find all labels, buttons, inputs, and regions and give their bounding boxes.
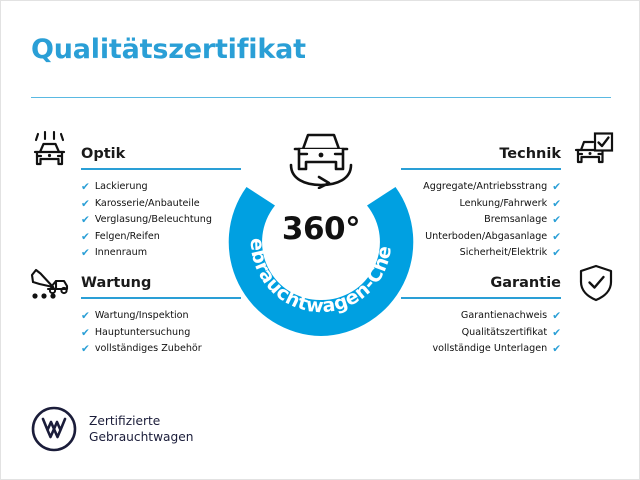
list-item: Sicherheit/Elektrik ✔: [401, 245, 561, 262]
title-divider: [31, 97, 611, 98]
car-shine-icon: [27, 131, 73, 171]
section-garantie: Garantie Garantienachweis ✔ Qualitätszer…: [401, 273, 561, 358]
check-icon: ✔: [81, 344, 90, 355]
quality-certificate-page: Qualitätszertifikat: [0, 0, 640, 480]
section-header-wartung: Wartung: [81, 273, 241, 299]
list-item: ✔ vollständiges Zubehör: [81, 341, 241, 358]
list-item: ✔ Karosserie/Anbauteile: [81, 196, 241, 213]
list-item: ✔ Hauptuntersuchung: [81, 325, 241, 342]
list-item: ✔ Felgen/Reifen: [81, 229, 241, 246]
car-rotate-icon: [279, 127, 363, 189]
car-checkbox-icon: [569, 131, 615, 171]
list-item-label: Innenraum: [95, 245, 147, 262]
list-item: ✔ Innenraum: [81, 245, 241, 262]
list-item: Bremsanlage ✔: [401, 212, 561, 229]
list-item: Garantienachweis ✔: [401, 308, 561, 325]
section-header-optik: Optik: [81, 144, 241, 170]
section-title-technik: Technik: [401, 144, 561, 164]
list-item-label: vollständige Unterlagen: [432, 341, 547, 358]
list-item-label: Aggregate/Antriebsstrang: [423, 179, 547, 196]
section-title-garantie: Garantie: [401, 273, 561, 293]
check-icon: ✔: [81, 199, 90, 210]
vw-footer-line1: Zertifizierte: [89, 413, 193, 429]
check-icon: ✔: [552, 328, 561, 339]
check-icon: ✔: [81, 182, 90, 193]
list-item-label: Felgen/Reifen: [95, 229, 160, 246]
check-icon: ✔: [81, 328, 90, 339]
list-item-label: Verglasung/Beleuchtung: [95, 212, 212, 229]
list-item-label: Hauptuntersuchung: [95, 325, 190, 342]
section-wartung: Wartung ✔ Wartung/Inspektion ✔ Hauptunte…: [81, 273, 241, 358]
list-item-label: Garantienachweis: [461, 308, 547, 325]
checklist-technik: Aggregate/Antriebsstrang ✔ Lenkung/Fahrw…: [401, 179, 561, 262]
list-item: vollständige Unterlagen ✔: [401, 341, 561, 358]
check-icon: ✔: [552, 199, 561, 210]
section-divider-wartung: [81, 297, 241, 299]
check-icon: ✔: [552, 344, 561, 355]
list-item-label: Lenkung/Fahrwerk: [459, 196, 547, 213]
list-item-label: Qualitätszertifikat: [462, 325, 548, 342]
list-item-label: vollständiges Zubehör: [95, 341, 202, 358]
wrench-car-icon: [27, 262, 73, 302]
shield-check-icon: [573, 263, 619, 303]
vw-footer-text: Zertifizierte Gebrauchtwagen: [89, 413, 193, 445]
check-icon: ✔: [552, 232, 561, 243]
list-item-label: Karosserie/Anbauteile: [95, 196, 200, 213]
page-title: Qualitätszertifikat: [31, 34, 306, 65]
list-item: Lenkung/Fahrwerk ✔: [401, 196, 561, 213]
section-optik: Optik ✔ Lackierung ✔ Karosserie/Anbautei…: [81, 144, 241, 262]
list-item: ✔ Lackierung: [81, 179, 241, 196]
check-icon: ✔: [552, 215, 561, 226]
list-item-label: Bremsanlage: [484, 212, 547, 229]
check-icon: ✔: [552, 248, 561, 259]
section-header-technik: Technik: [401, 144, 561, 170]
section-header-garantie: Garantie: [401, 273, 561, 299]
list-item-label: Lackierung: [95, 179, 148, 196]
check-icon: ✔: [81, 248, 90, 259]
section-divider-technik: [401, 168, 561, 170]
section-title-optik: Optik: [81, 144, 241, 164]
list-item: ✔ Verglasung/Beleuchtung: [81, 212, 241, 229]
section-title-wartung: Wartung: [81, 273, 241, 293]
section-divider-garantie: [401, 297, 561, 299]
checklist-garantie: Garantienachweis ✔ Qualitätszertifikat ✔…: [401, 308, 561, 358]
checklist-wartung: ✔ Wartung/Inspektion ✔ Hauptuntersuchung…: [81, 308, 241, 358]
check-icon: ✔: [81, 232, 90, 243]
check-icon: ✔: [552, 182, 561, 193]
list-item: Qualitätszertifikat ✔: [401, 325, 561, 342]
list-item: ✔ Wartung/Inspektion: [81, 308, 241, 325]
list-item-label: Wartung/Inspektion: [95, 308, 189, 325]
list-item-label: Unterboden/Abgasanlage: [425, 229, 547, 246]
list-item: Aggregate/Antriebsstrang ✔: [401, 179, 561, 196]
vw-logo: [31, 406, 77, 452]
list-item: Unterboden/Abgasanlage ✔: [401, 229, 561, 246]
checklist-optik: ✔ Lackierung ✔ Karosserie/Anbauteile ✔ V…: [81, 179, 241, 262]
list-item-label: Sicherheit/Elektrik: [460, 245, 548, 262]
section-technik: Technik Aggregate/Antriebsstrang ✔ Lenku…: [401, 144, 561, 262]
check-icon: ✔: [552, 311, 561, 322]
badge-center-label: 360°: [227, 211, 415, 247]
vw-footer: Zertifizierte Gebrauchtwagen: [31, 406, 193, 452]
check-icon: ✔: [81, 215, 90, 226]
section-divider-optik: [81, 168, 241, 170]
check-icon: ✔: [81, 311, 90, 322]
vw-footer-line2: Gebrauchtwagen: [89, 429, 193, 445]
